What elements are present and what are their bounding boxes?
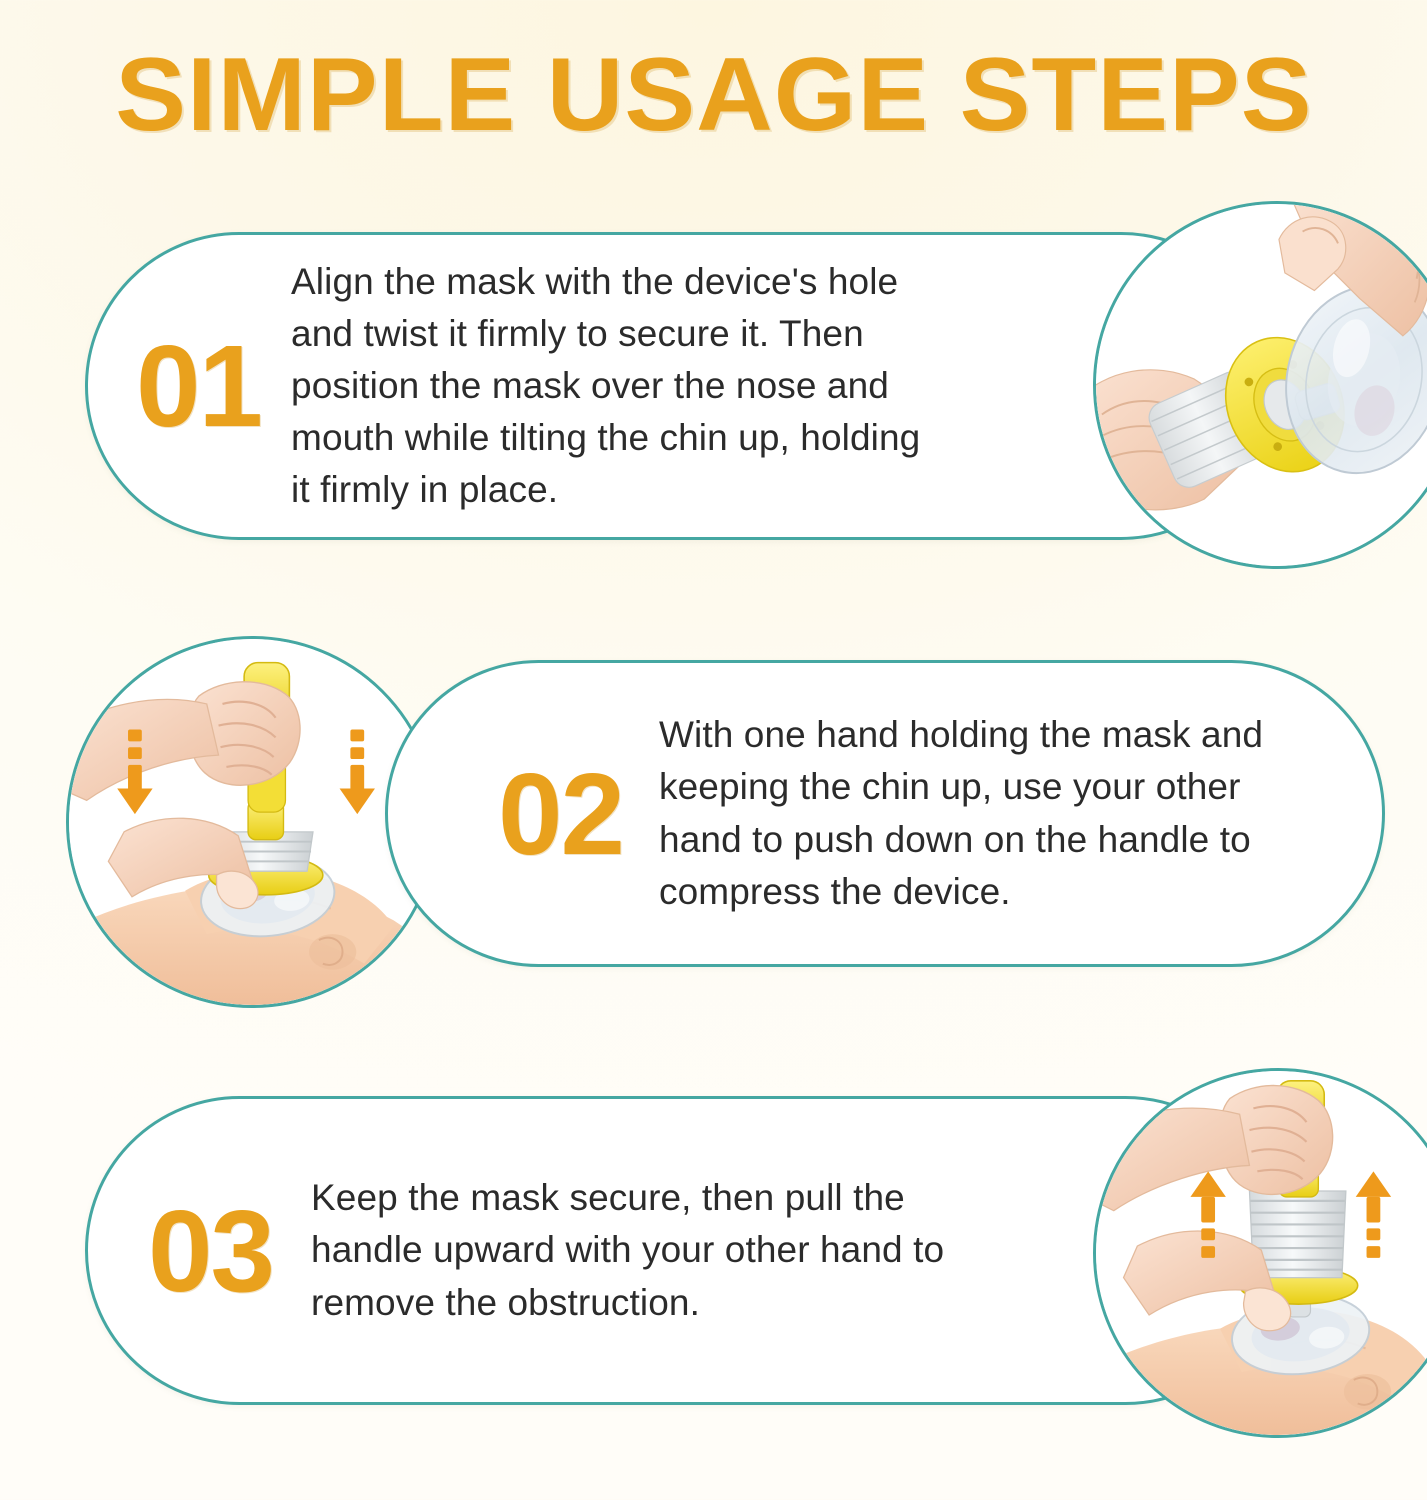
page-header: SIMPLE USAGE STEPS bbox=[0, 42, 1427, 148]
step-text-02: With one hand holding the mask and keepi… bbox=[659, 709, 1322, 918]
step-number-02: 02 bbox=[498, 756, 623, 872]
photo-attach-mask-to-device-illustration bbox=[1096, 204, 1427, 566]
photo-push-down-handle-illustration bbox=[69, 639, 435, 1005]
photo-pull-handle-upward-illustration bbox=[1096, 1071, 1427, 1435]
step-card-02: 02 With one hand holding the mask and ke… bbox=[385, 660, 1385, 967]
step-number-03: 03 bbox=[148, 1193, 273, 1309]
step-text-01: Align the mask with the device's hole an… bbox=[291, 256, 942, 517]
step-text-03: Keep the mask secure, then pull the hand… bbox=[311, 1172, 977, 1328]
infographic-page: { "header": { "title": "SIMPLE USAGE STE… bbox=[0, 0, 1427, 1500]
page-title: SIMPLE USAGE STEPS bbox=[115, 42, 1312, 148]
photo-push-down-handle bbox=[66, 636, 438, 1008]
step-number-01: 01 bbox=[136, 328, 261, 444]
